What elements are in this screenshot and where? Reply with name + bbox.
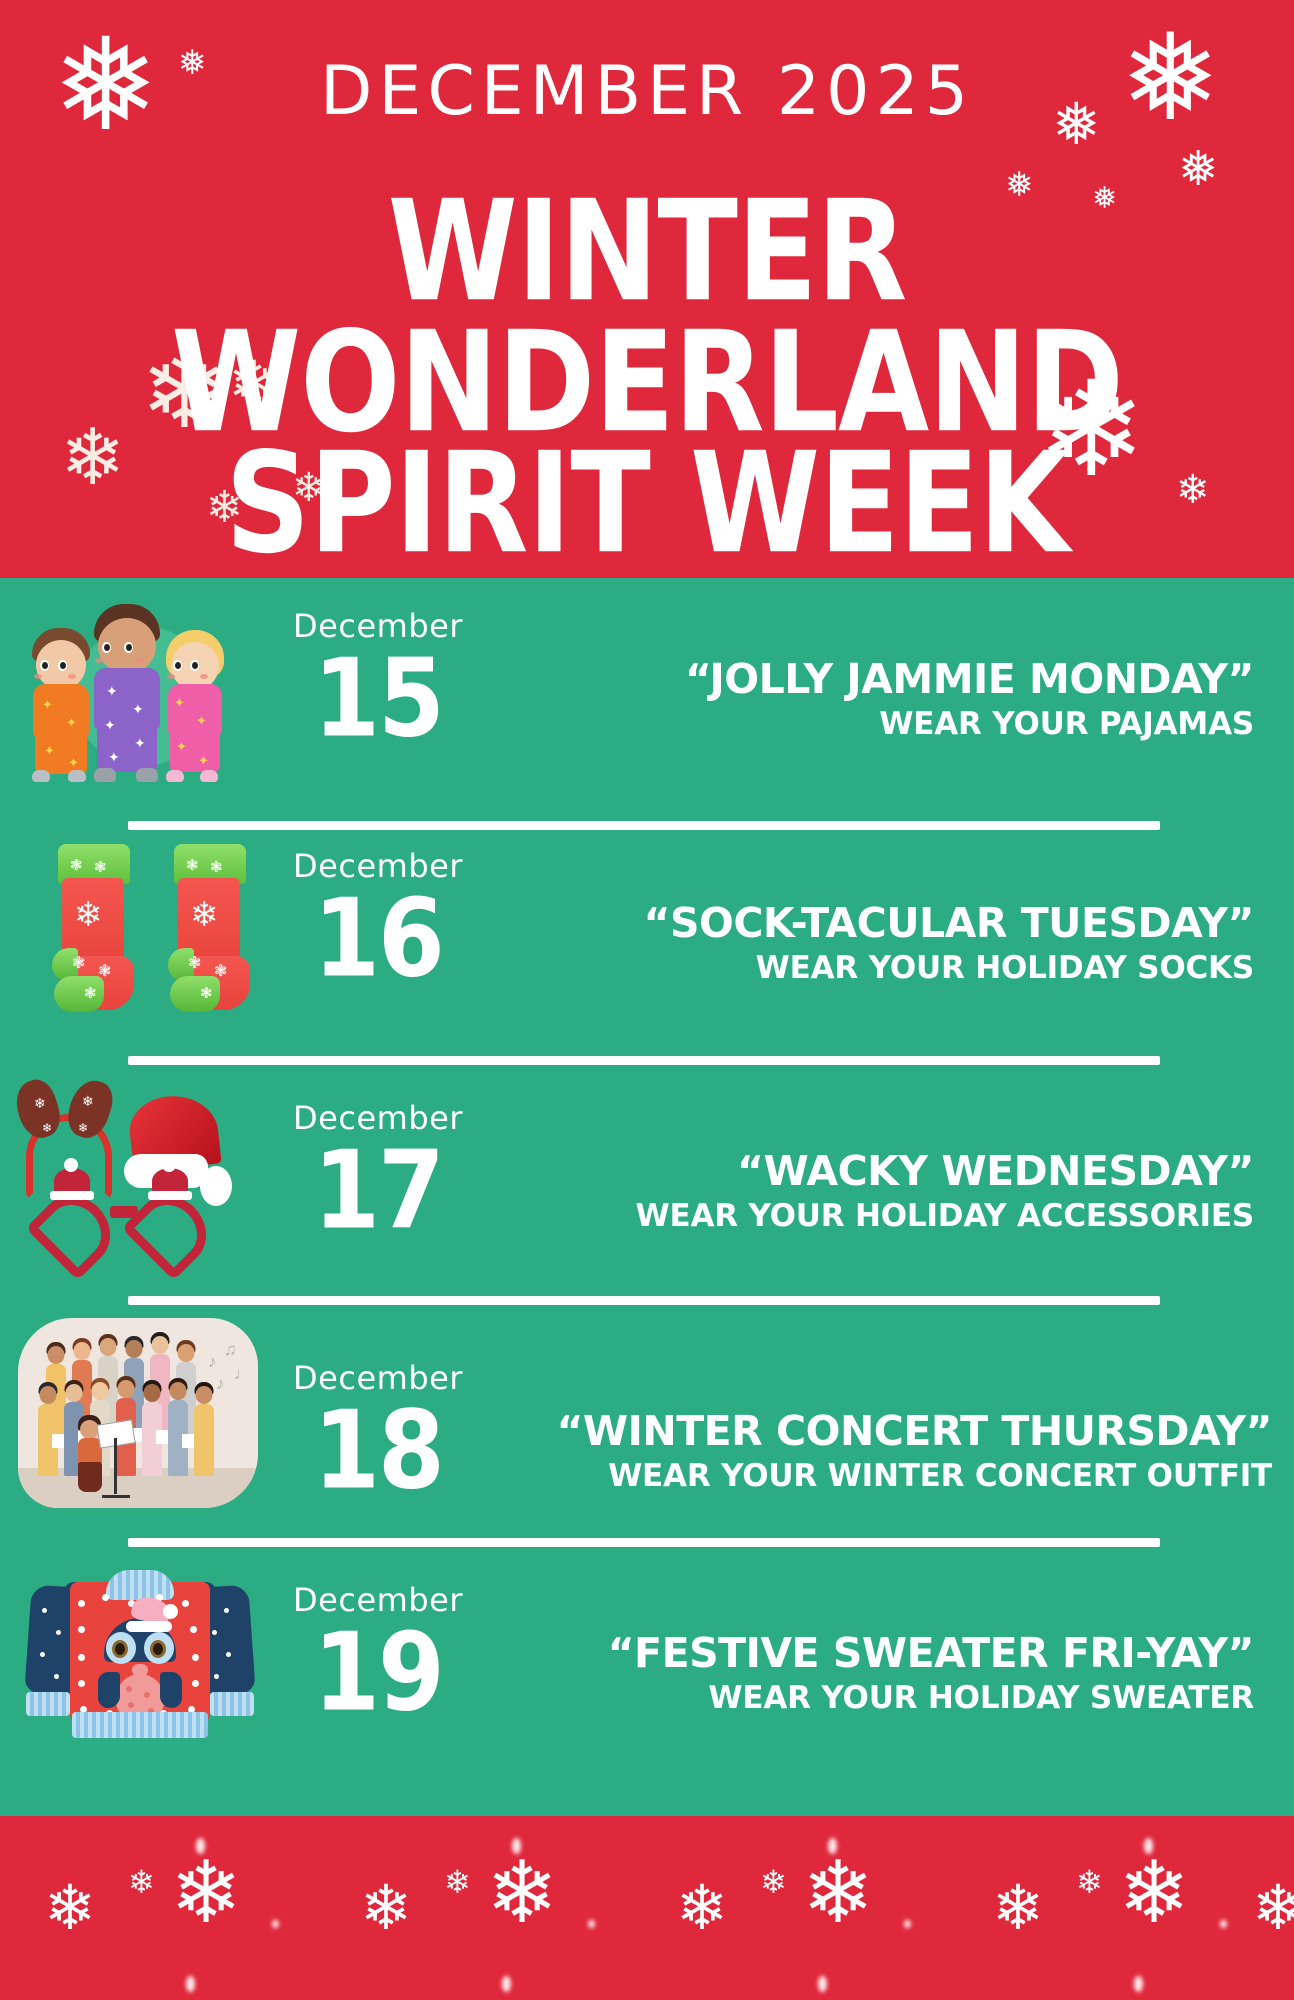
snowflake-icon: ❄ [760,1866,787,1898]
snowflake-icon: ❄ [44,1878,96,1940]
pajama-kids-illustration: ✦ ✦ ✦ ✦ [18,596,258,786]
music-note-icon: ♫ [224,1340,237,1360]
holiday-stockings-illustration: ❄ ❃ ❃ ❃ ❃ ❃ ❄ ❃ ❃ ❃ ❃ [38,840,278,1030]
day-subtitle: WEAR YOUR WINTER CONCERT OUTFIT [472,1459,1272,1493]
stocking-right: ❄ ❃ ❃ ❃ ❃ ❃ [166,844,250,1012]
day-row: December 19 “FESTIVE SWEATER FRI-YAY” WE… [0,1560,1294,1790]
owl-santa-hat [126,1598,174,1632]
day-subtitle: WEAR YOUR HOLIDAY SOCKS [454,951,1254,985]
day-number: 16 [288,888,468,990]
snowflake-icon: ❄ [170,1850,242,1936]
row-divider [128,1296,1160,1305]
title-line-1: WINTER WONDERLAND [0,186,1294,448]
day-date-column: December 18 [288,1362,468,1491]
holiday-accessories-illustration: ❄ ❄ ❄ ❄ [12,1074,252,1264]
snowflake-icon: ❄ [992,1878,1044,1940]
day-title: “WINTER CONCERT THURSDAY” [472,1410,1272,1453]
snowflake-icon: ❄ [1252,1878,1294,1940]
winter-concert-choir-illustration: ♪ ♫ ♪ ♩ [18,1318,264,1510]
day-title: “WACKY WEDNESDAY” [454,1150,1254,1193]
day-text-column: “WACKY WEDNESDAY” WEAR YOUR HOLIDAY ACCE… [454,1150,1254,1233]
day-number: 15 [288,648,468,750]
snowflake-icon: ❄ [486,1850,558,1936]
snow-dot [512,1838,521,1854]
ugly-holiday-sweater-illustration [20,1560,266,1760]
day-title: “JOLLY JAMMIE MONDAY” [454,658,1254,701]
day-text-column: “FESTIVE SWEATER FRI-YAY” WEAR YOUR HOLI… [454,1632,1254,1715]
day-subtitle: WEAR YOUR PAJAMAS [454,707,1254,741]
page-title: WINTER WONDERLAND SPIRIT WEEK [0,186,1294,549]
day-row: ❄ ❃ ❃ ❃ ❃ ❃ ❄ ❃ ❃ ❃ ❃ [0,840,1294,1060]
snowflake-icon: ❄ [444,1866,471,1898]
snowflake-icon: ❄ [1076,1866,1103,1898]
snowflake-icon: ❄ [676,1878,728,1940]
day-text-column: “SOCK-TACULAR TUESDAY” WEAR YOUR HOLIDAY… [454,902,1254,985]
title-line-2: SPIRIT WEEK [0,438,1294,569]
snowflake-icon: ❄ [802,1850,874,1936]
day-date-column: December 16 [288,850,468,979]
kid-pink: ✦ ✦ ✦ ✦ [158,630,232,780]
snow-dot [1220,1920,1227,1928]
row-divider [128,1538,1160,1547]
header-month-year: DECEMBER 2025 [0,52,1294,131]
music-note-icon: ♪ [216,1374,225,1394]
snow-dot [904,1920,911,1928]
music-stand [114,1438,117,1494]
snow-dot [186,1976,195,1992]
snowflake-icon: ❄ [128,1866,155,1898]
day-row: ❄ ❄ ❄ ❄ [0,1074,1294,1302]
day-number: 19 [288,1622,468,1724]
poster-header: ❅ ❅ ❄ ❄ ❄ ❄ ❄ ❅ ❅ ❅ ❅ ❅ ❄ ❄ DECEMBER 202… [0,0,1294,578]
row-divider [128,1056,1160,1065]
spirit-week-day-list: ✦ ✦ ✦ ✦ [0,578,1294,1816]
snow-dot [588,1920,595,1928]
day-date-column: December 19 [288,1584,468,1713]
snow-dot [196,1838,205,1854]
snow-dot [828,1838,837,1854]
heart-glasses-icon [36,1184,212,1258]
day-row: ✦ ✦ ✦ ✦ [0,596,1294,824]
day-title: “SOCK-TACULAR TUESDAY” [454,902,1254,945]
day-text-column: “JOLLY JAMMIE MONDAY” WEAR YOUR PAJAMAS [454,658,1254,741]
snow-dot [1134,1976,1143,1992]
snowflake-icon: ❄ [360,1878,412,1940]
day-subtitle: WEAR YOUR HOLIDAY SWEATER [454,1681,1254,1715]
day-date-column: December 17 [288,1102,468,1231]
stocking-left: ❄ ❃ ❃ ❃ ❃ ❃ [50,844,134,1012]
day-subtitle: WEAR YOUR HOLIDAY ACCESSORIES [454,1199,1254,1233]
day-number: 17 [288,1140,468,1242]
music-note-icon: ♪ [208,1352,217,1372]
snow-dot [1144,1838,1153,1854]
day-title: “FESTIVE SWEATER FRI-YAY” [454,1632,1254,1675]
day-date-column: December 15 [288,610,468,739]
day-number: 18 [288,1400,468,1502]
day-row: ♪ ♫ ♪ ♩ December 18 “WINTER CO [0,1318,1294,1546]
spirit-week-poster: ❅ ❅ ❄ ❄ ❄ ❄ ❄ ❅ ❅ ❅ ❅ ❅ ❄ ❄ DECEMBER 202… [0,0,1294,2000]
snowflake-icon: ❄ [1118,1850,1190,1936]
music-note-icon: ♩ [234,1364,251,1384]
snow-dot [818,1976,827,1992]
snow-dot [272,1920,279,1928]
poster-footer: ❄ ❄ ❄ ❄ ❄ ❄ ❄ ❄ ❄ ❄ ❄ ❄ ❄ [0,1816,1294,2000]
day-text-column: “WINTER CONCERT THURSDAY” WEAR YOUR WINT… [472,1410,1272,1493]
snow-dot [502,1976,511,1992]
row-divider [128,821,1160,830]
